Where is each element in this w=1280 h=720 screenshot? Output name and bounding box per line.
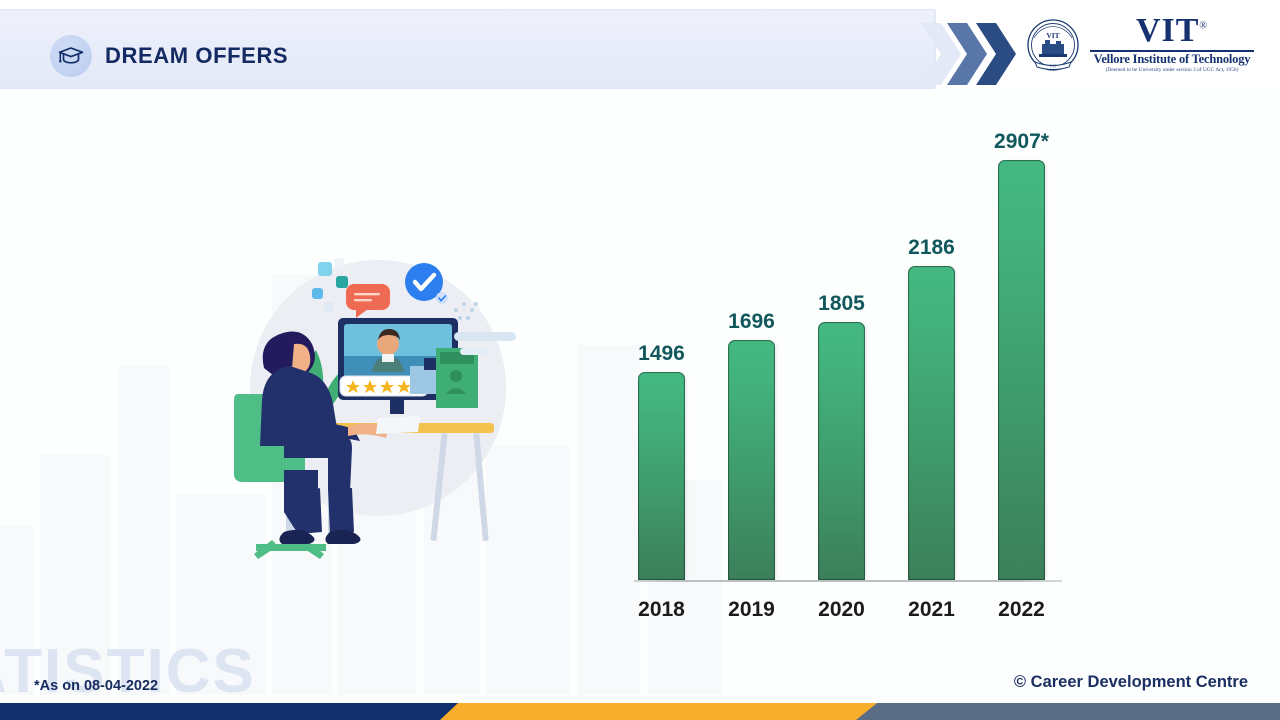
graduation-cap-icon [50,35,92,77]
bar-2020[interactable] [818,322,865,580]
x-tick-2020: 2020 [818,598,865,622]
bar-value-2020: 1805 [818,292,865,316]
bar-value-2019: 1696 [728,310,775,334]
vit-logo: VIT VIT VIT® Vellore Institute of Techno… [1022,14,1252,80]
copyright-credit: © Career Development Centre [1014,673,1248,692]
bottom-accent-bar [0,703,1280,720]
chart-x-axis-labels: 2018 2019 2020 2021 2022 [620,598,1080,638]
slide-canvas: DREAM OFFERS VIT [0,0,1280,720]
as-on-date-note: *As on 08-04-2022 [34,678,158,694]
vit-seal-icon: VIT VIT [1022,16,1084,78]
bottom-bar-segment-navy [0,703,470,720]
dream-offers-bar-chart: 1496 1696 1805 2186 2907* 2018 [620,140,1080,640]
bar-2021[interactable] [908,266,955,580]
bar-value-2018: 1496 [638,342,685,366]
chevron-left-icon-dark [960,23,1016,85]
statistics-watermark: ATISTICS [0,636,256,707]
chart-x-axis-line [634,580,1062,582]
registered-mark: ® [1199,21,1208,32]
bar-value-2022: 2907* [994,130,1049,154]
bar-value-2021: 2186 [908,236,955,260]
x-tick-2019: 2019 [728,598,775,622]
vit-subtitle: (Deemed to be University under section 3… [1090,67,1254,73]
x-tick-2022: 2022 [998,598,1045,622]
page-title: DREAM OFFERS [105,43,288,69]
vit-wordmark: VIT® Vellore Institute of Technology (De… [1090,14,1254,73]
chart-plot-area: 1496 1696 1805 2186 2907* [620,140,1080,580]
online-interview-illustration [228,248,533,563]
x-tick-2018: 2018 [638,598,685,622]
svg-text:VIT: VIT [1046,31,1059,40]
vit-full-name: Vellore Institute of Technology [1090,53,1254,66]
svg-text:VIT: VIT [1050,64,1057,69]
top-white-strip [0,0,1280,9]
bottom-bar-segment-orange [440,703,890,720]
vit-name-text: VIT [1136,12,1199,49]
bar-2018[interactable] [638,372,685,580]
bottom-bar-segment-gray [856,703,1280,720]
x-tick-2021: 2021 [908,598,955,622]
vit-name: VIT® [1090,14,1254,48]
bar-2022[interactable] [998,160,1045,580]
bar-2019[interactable] [728,340,775,580]
